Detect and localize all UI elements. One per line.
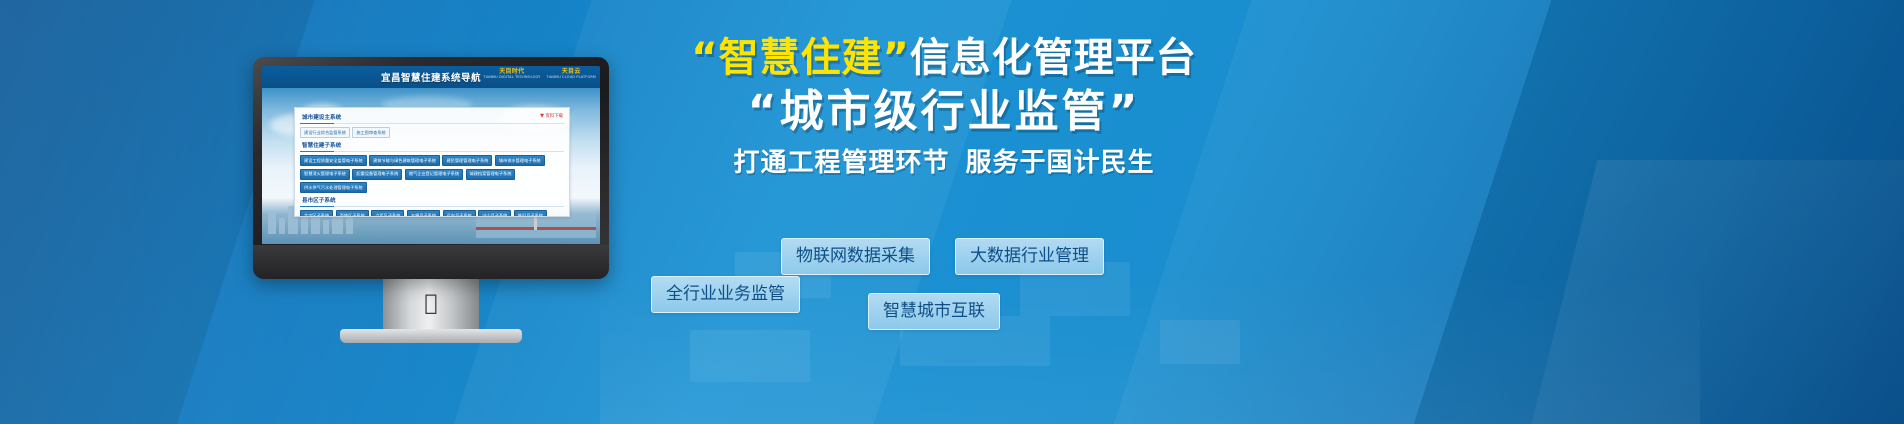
screen-content-panel: ▼ 资料下载 城市建设主系统 建设行业综合监管系统 施工图审查系统 智慧住建子系… bbox=[294, 107, 570, 217]
headline-block: “智慧住建”信息化管理平台 “城市级行业监管” 打通工程管理环节服务于国计民生 bbox=[624, 34, 1264, 180]
screen-logo-2-en: TIANMU CLOUD PLATFORM bbox=[546, 75, 596, 79]
screen-item[interactable]: 远安县子系统 bbox=[443, 210, 476, 217]
tag-all-industry-supervision[interactable]: 全行业业务监管 bbox=[651, 276, 800, 313]
screen-header-title: 宜昌智慧住建系统导航 bbox=[381, 70, 481, 84]
background-facet-4 bbox=[1389, 0, 1904, 424]
tag-smart-city-interconnect[interactable]: 智慧城市互联 bbox=[868, 293, 1000, 330]
headline-quote-close: ” bbox=[883, 35, 910, 81]
screen-item[interactable]: 五峰县子系统 bbox=[407, 210, 440, 217]
screen-item[interactable]: 燃气企业登记管理电子系统 bbox=[405, 169, 463, 180]
screen-item[interactable]: 建设工程质量安全监管电子系统 bbox=[300, 155, 367, 166]
monitor-mockup: 宜昌智慧住建系统导航 天目时代 TIANMU DIGITAL TECHNOLOG… bbox=[253, 57, 609, 302]
headline-quote-open: “ bbox=[691, 35, 718, 81]
screen-section-title-main: 城市建设主系统 bbox=[300, 113, 564, 124]
screen-item[interactable]: 建民管理管理电子系统 bbox=[442, 155, 492, 166]
screen-section-items-smart: 建设工程质量安全监管电子系统 建筑节能与绿色建筑管理电子系统 建民管理管理电子系… bbox=[300, 155, 564, 193]
monitor-bezel: 宜昌智慧住建系统导航 天目时代 TIANMU DIGITAL TECHNOLOG… bbox=[253, 57, 609, 279]
screen-item[interactable]: 城建档案管理电子系统 bbox=[466, 169, 516, 180]
screen-logo-2-zh: 天目云 bbox=[562, 68, 581, 75]
screen-item[interactable]: 起重设备管理电子系统 bbox=[352, 169, 402, 180]
screen-section-title-smart: 智慧住建子系统 bbox=[300, 141, 564, 152]
headline-line-1-rest: 信息化管理平台 bbox=[910, 35, 1197, 81]
screen-section-items-district: 大宁区子系统 西陵区子系统 点军区子系统 五峰县子系统 远安县子系统 兴山县子系… bbox=[300, 210, 564, 217]
screen-logo-1-en: TIANMU DIGITAL TECHNOLOGY bbox=[483, 75, 540, 79]
monitor-chin bbox=[253, 245, 609, 279]
screen-item[interactable]: 秭归县子系统 bbox=[514, 210, 547, 217]
screen-item[interactable]: 供水供气污水处理管理电子系统 bbox=[300, 182, 367, 193]
screen-item[interactable]: 城市排水管理电子系统 bbox=[495, 155, 545, 166]
screen-header-bar: 宜昌智慧住建系统导航 天目时代 TIANMU DIGITAL TECHNOLOG… bbox=[262, 66, 600, 88]
promo-banner: 宜昌智慧住建系统导航 天目时代 TIANMU DIGITAL TECHNOLOG… bbox=[0, 0, 1904, 424]
screen-section-title-district: 县市区子系统 bbox=[300, 196, 564, 207]
screen-item[interactable]: 大宁区子系统 bbox=[300, 210, 333, 217]
headline-line-3: 打通工程管理环节服务于国计民生 bbox=[624, 146, 1264, 180]
headline-line-3-right: 服务于国计民生 bbox=[966, 148, 1155, 178]
apple-logo-icon:  bbox=[424, 293, 437, 315]
screen-item[interactable]: 施工图审查系统 bbox=[352, 127, 389, 138]
screen-logo-2: 天目云 TIANMU CLOUD PLATFORM bbox=[546, 68, 596, 79]
headline-highlight: 智慧住建 bbox=[719, 35, 883, 81]
tag-bigdata-industry-management[interactable]: 大数据行业管理 bbox=[955, 238, 1104, 275]
monitor-screen: 宜昌智慧住建系统导航 天目时代 TIANMU DIGITAL TECHNOLOG… bbox=[262, 66, 600, 244]
screen-logo-1: 天目时代 TIANMU DIGITAL TECHNOLOGY bbox=[483, 68, 540, 79]
screen-item[interactable]: 建筑节能与绿色建筑管理电子系统 bbox=[369, 155, 440, 166]
screen-logo-group: 天目时代 TIANMU DIGITAL TECHNOLOGY 天目云 TIANM… bbox=[483, 68, 596, 79]
screen-item[interactable]: 智慧消火管理电子系统 bbox=[300, 169, 350, 180]
screen-section-items-main: 建设行业综合监管系统 施工图审查系统 bbox=[300, 127, 564, 138]
screen-item[interactable]: 西陵区子系统 bbox=[336, 210, 369, 217]
decorative-square bbox=[690, 330, 810, 382]
headline-line-2: “城市级行业监管” bbox=[624, 84, 1264, 140]
headline-line-3-left: 打通工程管理环节 bbox=[733, 148, 949, 178]
headline-line-1: “智慧住建”信息化管理平台 bbox=[624, 34, 1264, 82]
screen-item[interactable]: 建设行业综合监管系统 bbox=[300, 127, 350, 138]
screen-item[interactable]: 兴山县子系统 bbox=[478, 210, 511, 217]
background-facet-6 bbox=[1523, 160, 1904, 424]
monitor-stand-foot bbox=[340, 329, 522, 343]
screen-item[interactable]: 点军区子系统 bbox=[371, 210, 404, 217]
tag-iot-data-collection[interactable]: 物联网数据采集 bbox=[781, 238, 930, 275]
decorative-square bbox=[1160, 320, 1240, 364]
screen-logo-1-zh: 天目时代 bbox=[499, 68, 524, 75]
